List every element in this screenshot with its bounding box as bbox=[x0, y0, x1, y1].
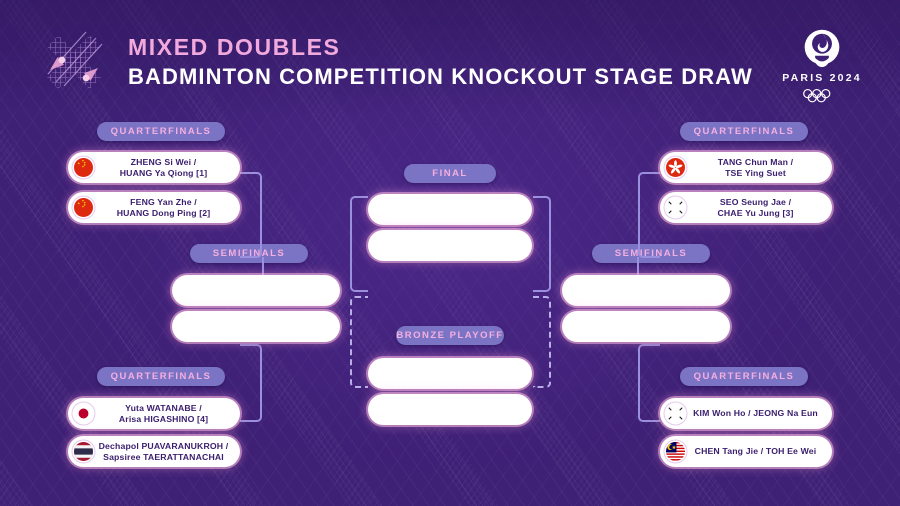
round-label-bronze-playoff: BRONZE PLAYOFF bbox=[396, 326, 504, 345]
paris2024-logo: PARIS 2024 bbox=[774, 28, 870, 103]
flag-southkorea-icon bbox=[666, 198, 685, 217]
team-names: SEO Seung Jae / CHAE Yu Jung [3] bbox=[685, 197, 832, 219]
paris2024-flame-emblem-icon bbox=[796, 28, 848, 68]
page-title: MIXED DOUBLES bbox=[128, 35, 753, 60]
match-slot-sf-right-1[interactable] bbox=[562, 275, 730, 306]
round-label-quarterfinals-top-left: QUARTERFINALS bbox=[97, 122, 225, 141]
team-names: KIM Won Ho / JEONG Na Eun bbox=[685, 408, 832, 419]
match-slot-qf-topright-2[interactable]: SEO Seung Jae / CHAE Yu Jung [3] bbox=[660, 192, 832, 223]
connector-sf-right-to-bronze bbox=[533, 296, 551, 388]
round-label-quarterfinals-bottom-left: QUARTERFINALS bbox=[97, 367, 225, 386]
round-label-quarterfinals-bottom-right: QUARTERFINALS bbox=[680, 367, 808, 386]
match-slot-sf-left-2[interactable] bbox=[172, 311, 340, 342]
connector-qf-topleft-to-sf bbox=[240, 172, 262, 258]
match-slot-bronze-1[interactable] bbox=[368, 358, 532, 389]
round-label-quarterfinals-top-right: QUARTERFINALS bbox=[680, 122, 808, 141]
flag-southkorea-icon bbox=[666, 404, 685, 423]
team-names: Dechapol PUAVARANUKROH / Sapsiree TAERAT… bbox=[93, 441, 240, 463]
match-slot-qf-bottomright-1[interactable]: KIM Won Ho / JEONG Na Eun bbox=[660, 398, 832, 429]
olympic-rings-icon bbox=[799, 88, 845, 103]
team-names: CHEN Tang Jie / TOH Ee Wei bbox=[685, 446, 832, 457]
poster-header: MIXED DOUBLES BADMINTON COMPETITION KNOC… bbox=[36, 24, 753, 100]
match-slot-qf-topright-1[interactable]: TANG Chun Man / TSE Ying Suet bbox=[660, 152, 832, 183]
match-slot-qf-bottomleft-2[interactable]: Dechapol PUAVARANUKROH / Sapsiree TAERAT… bbox=[68, 436, 240, 467]
match-slot-qf-bottomright-2[interactable]: CHEN Tang Jie / TOH Ee Wei bbox=[660, 436, 832, 467]
badminton-shuttlecock-icon bbox=[36, 24, 112, 100]
connector-sf-left-to-final bbox=[350, 196, 368, 292]
match-slot-final-2[interactable] bbox=[368, 230, 532, 261]
bracket-poster: MIXED DOUBLES BADMINTON COMPETITION KNOC… bbox=[0, 0, 900, 506]
flag-japan-icon bbox=[74, 404, 93, 423]
round-label-final: FINAL bbox=[404, 164, 496, 183]
match-slot-bronze-2[interactable] bbox=[368, 394, 532, 425]
connector-qf-bottomright-to-sf bbox=[638, 344, 660, 422]
match-slot-qf-topleft-1[interactable]: ZHENG Si Wei / HUANG Ya Qiong [1] bbox=[68, 152, 240, 183]
team-names: Yuta WATANABE / Arisa HIGASHINO [4] bbox=[93, 403, 240, 425]
paris2024-wordmark: PARIS 2024 bbox=[782, 72, 862, 84]
connector-sf-left-to-bronze bbox=[350, 296, 368, 388]
page-subtitle: BADMINTON COMPETITION KNOCKOUT STAGE DRA… bbox=[128, 65, 753, 89]
flag-malaysia-icon bbox=[666, 442, 685, 461]
team-names: TANG Chun Man / TSE Ying Suet bbox=[685, 157, 832, 179]
match-slot-qf-topleft-2[interactable]: FENG Yan Zhe / HUANG Dong Ping [2] bbox=[68, 192, 240, 223]
flag-thailand-icon bbox=[74, 442, 93, 461]
connector-qf-bottomleft-to-sf bbox=[240, 344, 262, 422]
team-names: FENG Yan Zhe / HUANG Dong Ping [2] bbox=[93, 197, 240, 219]
match-slot-final-1[interactable] bbox=[368, 194, 532, 225]
match-slot-sf-left-1[interactable] bbox=[172, 275, 340, 306]
connector-qf-topright-to-sf bbox=[638, 172, 660, 258]
flag-china-icon bbox=[74, 198, 93, 217]
team-names: ZHENG Si Wei / HUANG Ya Qiong [1] bbox=[93, 157, 240, 179]
flag-hongkong-icon bbox=[666, 158, 685, 177]
match-slot-sf-right-2[interactable] bbox=[562, 311, 730, 342]
flag-china-icon bbox=[74, 158, 93, 177]
connector-sf-right-to-final bbox=[533, 196, 551, 292]
match-slot-qf-bottomleft-1[interactable]: Yuta WATANABE / Arisa HIGASHINO [4] bbox=[68, 398, 240, 429]
